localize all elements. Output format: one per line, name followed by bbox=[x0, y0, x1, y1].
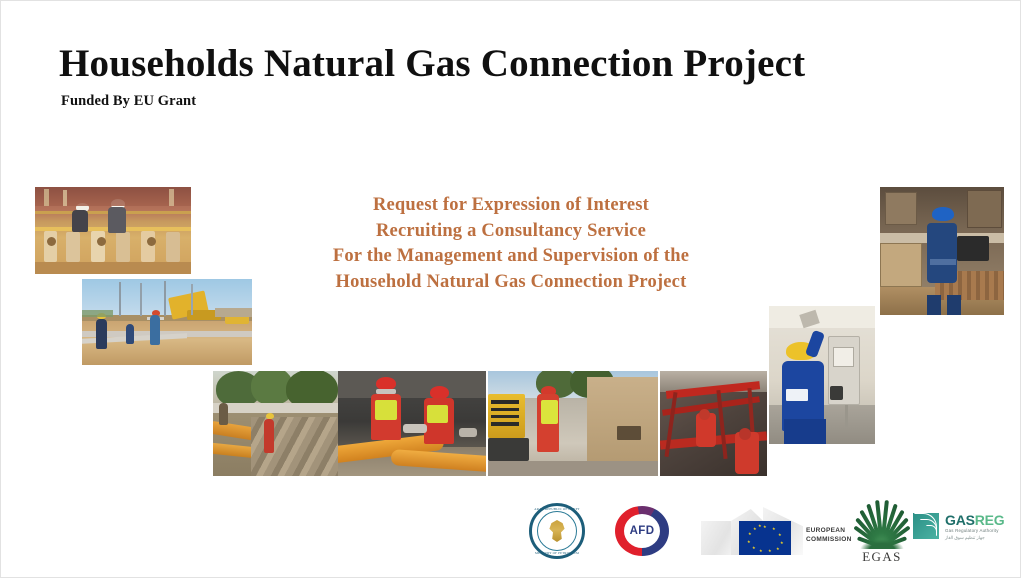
photo-gas-plant-pipes-and-valves bbox=[35, 187, 191, 274]
european-commission-logo: ★ ★ ★ ★ ★ ★ ★ ★ ★ ★ ★ ★ EUROPEAN COMMISS… bbox=[701, 505, 856, 557]
photo-workers-joining-gas-pipe bbox=[338, 371, 486, 476]
announcement-line-2: Recruiting a Consultancy Service bbox=[211, 219, 811, 245]
eu-stars: ★ ★ ★ ★ ★ ★ ★ ★ ★ ★ ★ ★ bbox=[739, 521, 791, 555]
presentation-slide: Households Natural Gas Connection Projec… bbox=[0, 0, 1021, 578]
hard-hat-icon bbox=[266, 413, 274, 419]
afd-wordmark: AFD bbox=[630, 525, 655, 537]
seal-arc-bottom-text: MINISTRY OF PETROLEUM bbox=[535, 551, 579, 555]
page-subtitle: Funded By EU Grant bbox=[61, 93, 196, 110]
egas-wordmark: EGAS bbox=[846, 549, 918, 565]
announcement-line-3: For the Management and Supervision of th… bbox=[211, 244, 811, 270]
gasreg-signal-icon bbox=[913, 513, 939, 539]
gasreg-word-reg: REG bbox=[975, 512, 1005, 528]
ec-wordmark-line-2: COMMISSION bbox=[806, 536, 852, 545]
photo-pipeline-trench-excavation bbox=[82, 279, 252, 365]
gasreg-wordmark: GASREG bbox=[945, 512, 1005, 528]
announcement-line-4: Household Natural Gas Connection Project bbox=[211, 270, 811, 296]
eagle-of-saladin-icon bbox=[547, 520, 567, 542]
ec-wordmark-line-1: EUROPEAN bbox=[806, 527, 852, 536]
eu-flag-icon: ★ ★ ★ ★ ★ ★ ★ ★ ★ ★ ★ ★ bbox=[739, 521, 791, 555]
gasreg-word-gas: GAS bbox=[945, 512, 975, 528]
seal-inner-ring bbox=[537, 511, 577, 551]
photo-technician-installing-kitchen-connection bbox=[880, 187, 1004, 315]
egas-palm-base bbox=[860, 539, 904, 549]
partner-logo-strip: ARAB REPUBLIC OF EGYPT MINISTRY OF PETRO… bbox=[521, 497, 1021, 567]
photo-technician-installing-gas-meter bbox=[769, 306, 875, 444]
photo-worker-with-fusion-machine bbox=[488, 371, 658, 476]
egas-logo: EGAS bbox=[846, 497, 918, 565]
gasreg-logo: GASREG Gas Regulatory Authority جهاز تنظ… bbox=[913, 511, 1017, 547]
gasreg-subtitle-ar: جهاز تنظيم سوق الغاز bbox=[945, 535, 985, 541]
egypt-government-seal-logo: ARAB REPUBLIC OF EGYPT MINISTRY OF PETRO… bbox=[529, 503, 585, 559]
photo-crew-on-red-drilling-rig bbox=[660, 371, 767, 476]
page-title: Households Natural Gas Connection Projec… bbox=[59, 41, 805, 86]
ec-wordmark: EUROPEAN COMMISSION bbox=[806, 527, 852, 544]
afd-logo: AFD bbox=[615, 506, 669, 556]
afd-logo-center: AFD bbox=[624, 514, 660, 548]
hard-hat-icon bbox=[430, 386, 449, 399]
photo-yellow-pipe-in-street-trench bbox=[213, 371, 338, 476]
hard-hat-icon bbox=[932, 207, 954, 221]
gasreg-subtitle-en: Gas Regulatory Authority bbox=[945, 528, 999, 533]
announcement-block: Request for Expression of Interest Recru… bbox=[211, 193, 811, 295]
announcement-line-1: Request for Expression of Interest bbox=[211, 193, 811, 219]
